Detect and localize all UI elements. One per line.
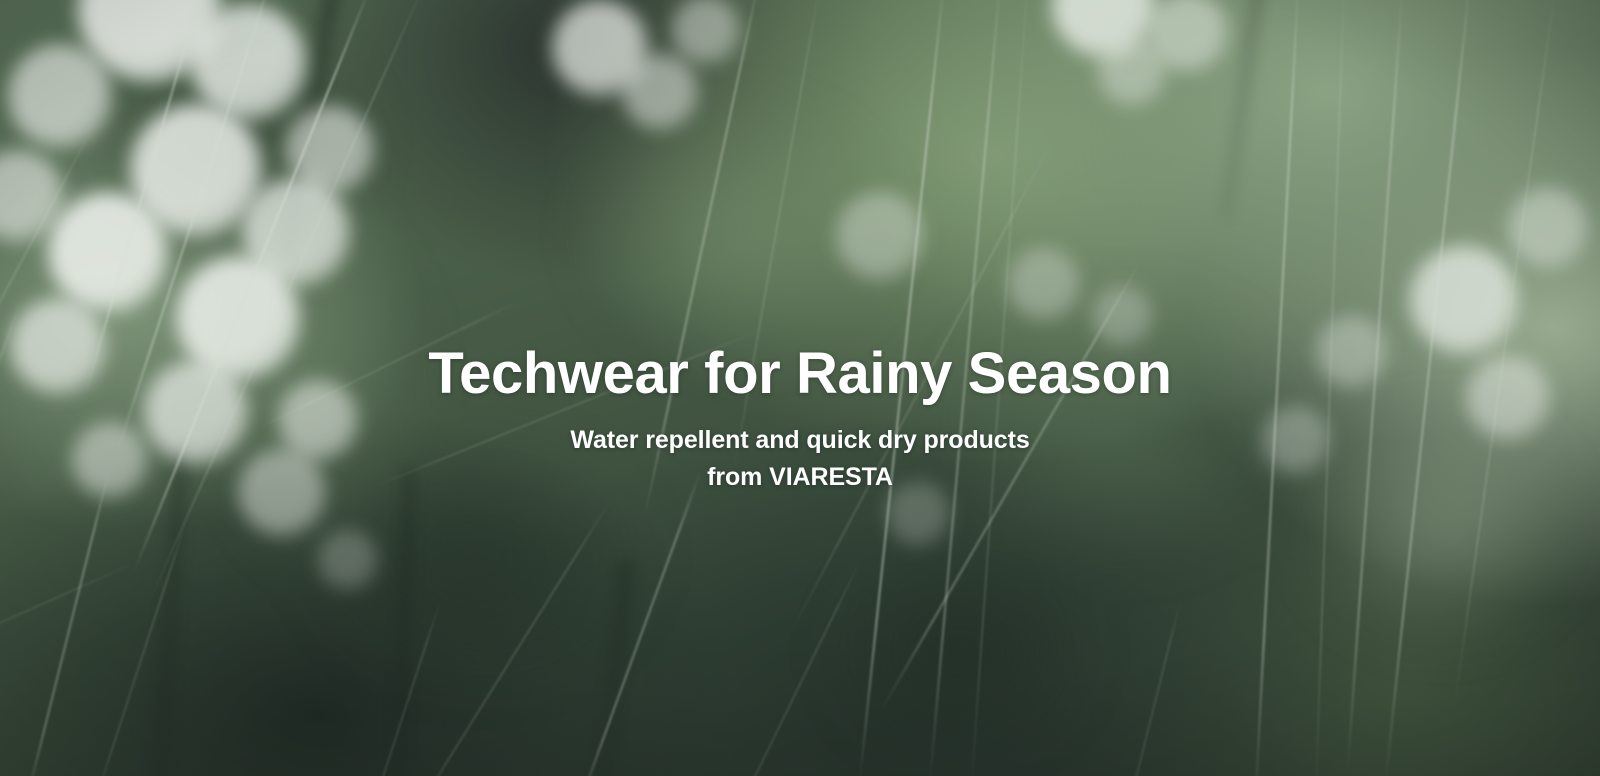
headline-title: Techwear for Rainy Season — [0, 340, 1600, 408]
subtitle-line-2: from VIARESTA — [0, 459, 1600, 496]
caption-block: Techwear for Rainy Season Water repellen… — [0, 340, 1600, 496]
video-frame-hero: Techwear for Rainy Season Water repellen… — [0, 0, 1600, 776]
subtitle-line-1: Water repellent and quick dry products — [0, 422, 1600, 459]
headline-subtitle: Water repellent and quick dry products f… — [0, 422, 1600, 496]
